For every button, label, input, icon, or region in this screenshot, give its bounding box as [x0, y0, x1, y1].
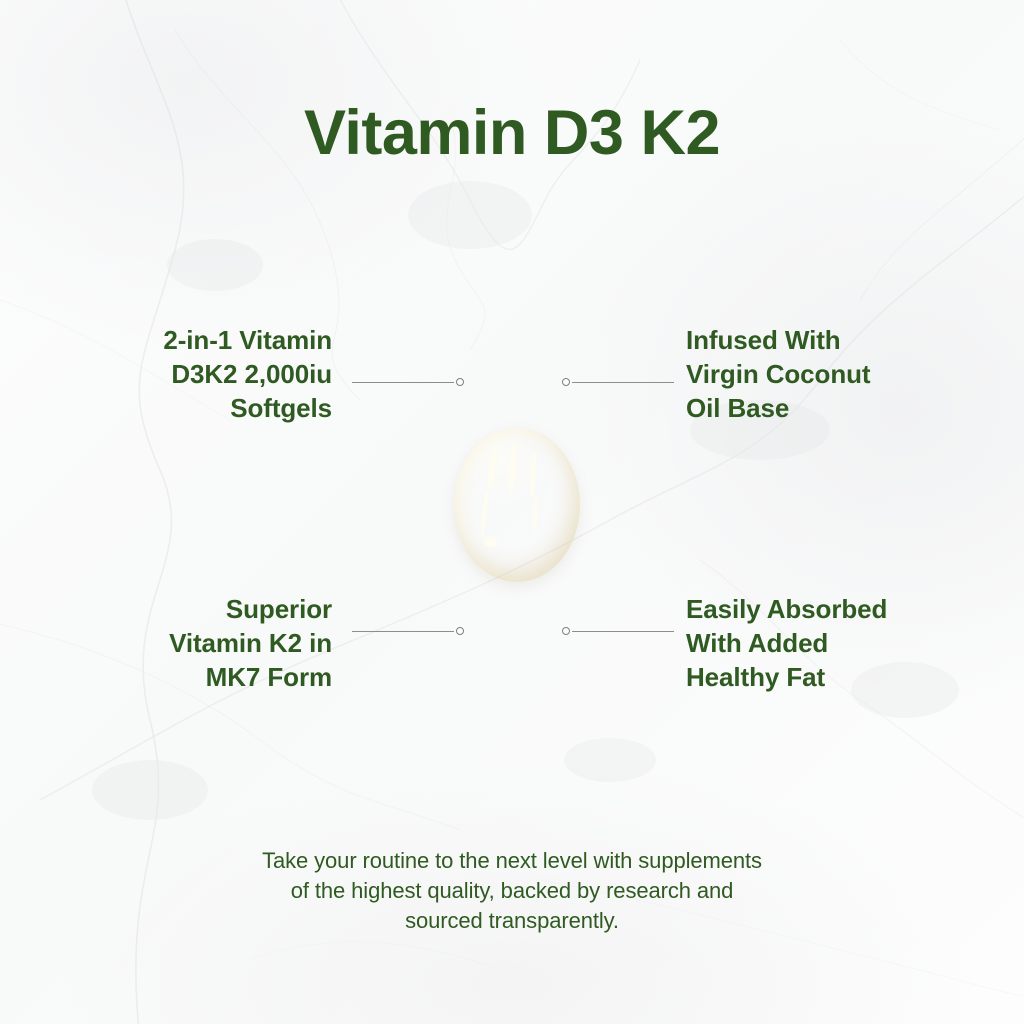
feature-line: Easily Absorbed — [686, 592, 986, 626]
feature-line: Infused With — [686, 323, 976, 357]
connector-dot-icon — [456, 378, 464, 386]
product-infographic: Vitamin D3 K2 2-in-1 Vitamin D3K2 2,000i… — [0, 0, 1024, 1024]
connector-bar — [352, 631, 454, 632]
feature-line: Superior — [60, 592, 332, 626]
feature-line: D3K2 2,000iu — [60, 357, 332, 391]
page-title: Vitamin D3 K2 — [0, 98, 1024, 168]
connector-line-bottom-left — [352, 626, 464, 638]
feature-label-top-left: 2-in-1 Vitamin D3K2 2,000iu Softgels — [60, 323, 332, 425]
softgel-highlight — [531, 496, 538, 532]
tagline-line: Take your routine to the next level with… — [0, 846, 1024, 876]
connector-bar — [352, 382, 454, 383]
connector-bar — [572, 382, 674, 383]
feature-line: With Added — [686, 626, 986, 660]
softgel-highlight — [484, 536, 497, 547]
feature-label-bottom-left: Superior Vitamin K2 in MK7 Form — [60, 592, 332, 694]
softgel-body — [454, 428, 580, 582]
connector-line-top-left — [352, 377, 464, 389]
connector-dot-icon — [562, 627, 570, 635]
tagline-line: of the highest quality, backed by resear… — [0, 876, 1024, 906]
feature-label-top-right: Infused With Virgin Coconut Oil Base — [686, 323, 976, 425]
connector-dot-icon — [456, 627, 464, 635]
connector-line-top-right — [562, 377, 674, 389]
feature-label-bottom-right: Easily Absorbed With Added Healthy Fat — [686, 592, 986, 694]
feature-line: Softgels — [60, 391, 332, 425]
connector-line-bottom-right — [562, 626, 674, 638]
feature-line: Healthy Fat — [686, 660, 986, 694]
feature-line: MK7 Form — [60, 660, 332, 694]
feature-line: Virgin Coconut — [686, 357, 976, 391]
connector-dot-icon — [562, 378, 570, 386]
tagline: Take your routine to the next level with… — [0, 846, 1024, 936]
connector-bar — [572, 631, 674, 632]
feature-line: Oil Base — [686, 391, 976, 425]
feature-line: Vitamin K2 in — [60, 626, 332, 660]
softgel-capsule-icon — [454, 428, 580, 582]
tagline-line: sourced transparently. — [0, 906, 1024, 936]
feature-line: 2-in-1 Vitamin — [60, 323, 332, 357]
